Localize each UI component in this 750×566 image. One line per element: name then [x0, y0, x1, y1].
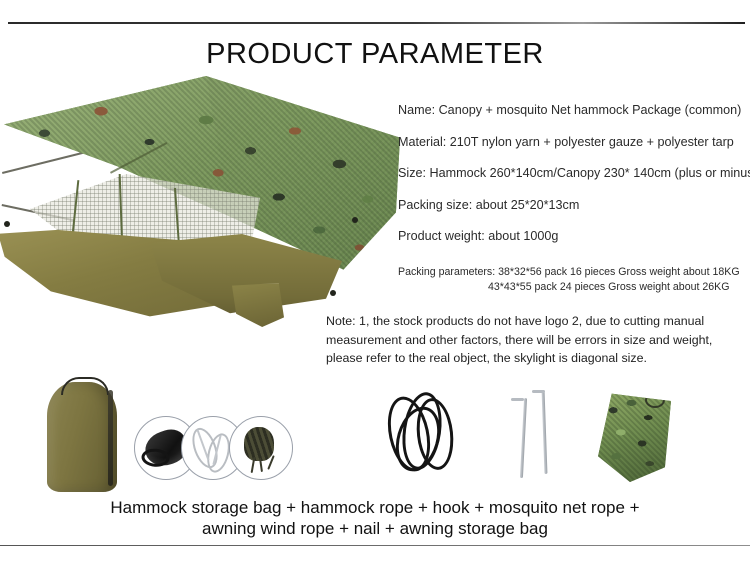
spec-packing-size: Packing size: about 25*20*13cm: [398, 190, 748, 222]
awning-storage-bag: [595, 390, 671, 482]
mosquito-net-rope-circle: [229, 416, 293, 480]
tarp-tie-point-bottom: [330, 290, 336, 296]
packing-parameters: Packing parameters: 38*32*56 pack 16 pie…: [398, 265, 748, 295]
tent-nail-1: [520, 398, 527, 478]
top-divider-rule: [8, 22, 745, 24]
packing-parameters-line-2: 43*43*55 pack 24 pieces Gross weight abo…: [398, 280, 748, 295]
caption-line-2: awning wind rope + nail + awning storage…: [0, 518, 750, 539]
specification-list: Name: Canopy + mosquito Net hammock Pack…: [398, 95, 748, 295]
accessories-caption: Hammock storage bag + hammock rope + hoo…: [0, 497, 750, 539]
caption-line-1: Hammock storage bag + hammock rope + hoo…: [0, 497, 750, 518]
mosquito-net-rope-bundle: [244, 427, 274, 461]
hammock-with-camo-tarp-photo: [0, 76, 400, 316]
awning-wind-rope-coil: [385, 390, 465, 474]
tent-nail-2: [542, 390, 547, 474]
tent-nail-head-2: [532, 390, 545, 393]
spec-name: Name: Canopy + mosquito Net hammock Pack…: [398, 95, 748, 127]
page-title: PRODUCT PARAMETER: [0, 38, 750, 71]
note-paragraph: Note: 1, the stock products do not have …: [326, 312, 736, 368]
hammock-storage-bag: [47, 382, 117, 492]
tent-nail-head-1: [511, 398, 524, 401]
suspension-cord-left-upper: [2, 152, 84, 174]
spec-size: Size: Hammock 260*140cm/Canopy 230* 140c…: [398, 158, 748, 190]
spec-material: Material: 210T nylon yarn + polyester ga…: [398, 127, 748, 159]
accessories-row: [0, 376, 750, 496]
tarp-tie-point-right: [352, 217, 358, 223]
tarp-tie-point-left: [4, 221, 10, 227]
packing-parameters-line-1: Packing parameters: 38*32*56 pack 16 pie…: [398, 266, 740, 278]
bottom-divider-rule: [0, 545, 750, 546]
spec-product-weight: Product weight: about 1000g: [398, 221, 748, 253]
product-parameter-page: PRODUCT PARAMETER Name: Canopy + mosquit…: [0, 0, 750, 566]
hammock-gear-pocket: [232, 283, 284, 327]
